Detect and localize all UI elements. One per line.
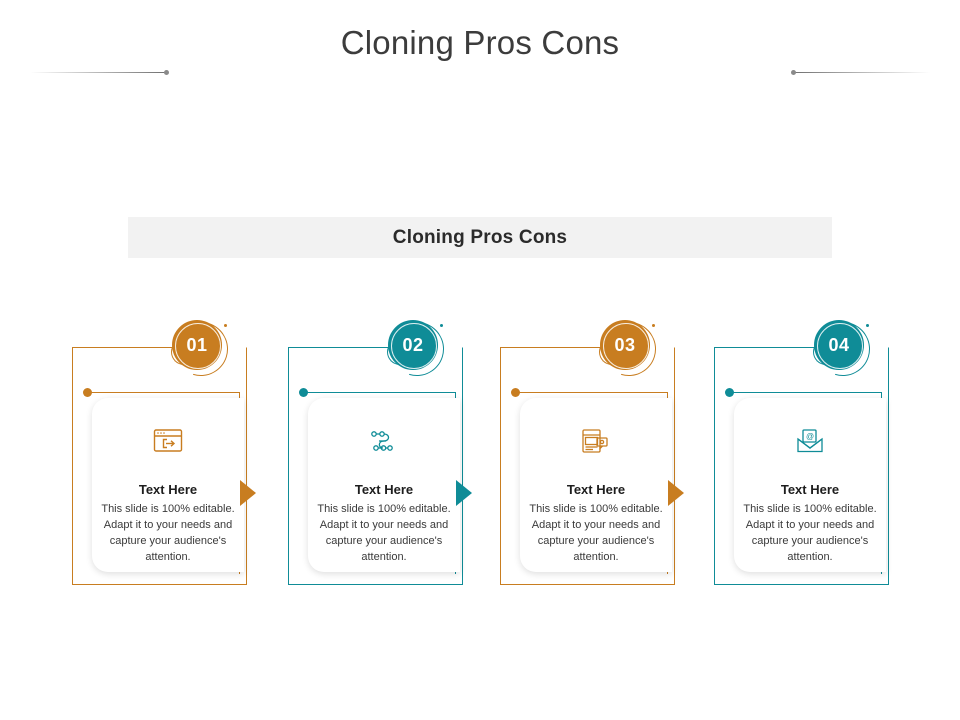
card-heading: Text Here [139, 482, 197, 497]
card-body-text: This slide is 100% editable. Adapt it to… [736, 501, 884, 565]
badge-circle: 04 [814, 320, 864, 370]
badge-number: 04 [828, 335, 849, 356]
banner-title: Cloning Pros Cons [393, 227, 567, 249]
card-panel: @ Text Here This slide is 100% editable.… [734, 398, 886, 572]
badge-circle: 03 [600, 320, 650, 370]
badge-number: 01 [186, 335, 207, 356]
badge-micro-dot [440, 324, 443, 327]
badge-micro-dot [224, 324, 227, 327]
card-heading: Text Here [355, 482, 413, 497]
card-panel: Text Here This slide is 100% editable. A… [520, 398, 672, 572]
card-panel: Text Here This slide is 100% editable. A… [308, 398, 460, 572]
connector-dot [299, 388, 308, 397]
card-body-text: This slide is 100% editable. Adapt it to… [94, 501, 242, 565]
badge-circle: 01 [172, 320, 222, 370]
badge-circle: 02 [388, 320, 438, 370]
rule-end-dot [164, 70, 169, 75]
card-number-badge: 04 [812, 318, 874, 380]
email-envelope-icon: @ [795, 424, 825, 458]
card-panel: Text Here This slide is 100% editable. A… [92, 398, 244, 572]
connector-dot [511, 388, 520, 397]
flow-arrow [456, 480, 472, 506]
workflow-nodes-icon [369, 424, 399, 458]
card-heading: Text Here [781, 482, 839, 497]
rule-end-dot [791, 70, 796, 75]
connector-dot [83, 388, 92, 397]
svg-text:@: @ [806, 432, 814, 441]
decorative-rule-right [792, 72, 930, 73]
badge-micro-dot [652, 324, 655, 327]
page-title: Cloning Pros Cons [0, 24, 960, 62]
connector-dot [725, 388, 734, 397]
flow-arrow [668, 480, 684, 506]
document-article-icon [581, 424, 611, 458]
flow-arrow [240, 480, 256, 506]
card-04[interactable]: @ Text Here This slide is 100% editable.… [708, 318, 896, 590]
section-banner: Cloning Pros Cons [128, 217, 832, 258]
card-body-text: This slide is 100% editable. Adapt it to… [310, 501, 458, 565]
card-01[interactable]: Text Here This slide is 100% editable. A… [66, 318, 254, 590]
badge-number: 02 [402, 335, 423, 356]
card-number-badge: 01 [170, 318, 232, 380]
card-heading: Text Here [567, 482, 625, 497]
card-02[interactable]: Text Here This slide is 100% editable. A… [282, 318, 470, 590]
card-number-badge: 02 [386, 318, 448, 380]
badge-micro-dot [866, 324, 869, 327]
decorative-rule-left [30, 72, 168, 73]
rule-line [30, 72, 168, 73]
cards-row: Text Here This slide is 100% editable. A… [0, 318, 960, 598]
rule-line [792, 72, 930, 73]
card-body-text: This slide is 100% editable. Adapt it to… [522, 501, 670, 565]
browser-logout-icon [153, 424, 183, 458]
badge-number: 03 [614, 335, 635, 356]
card-number-badge: 03 [598, 318, 660, 380]
card-03[interactable]: Text Here This slide is 100% editable. A… [494, 318, 682, 590]
